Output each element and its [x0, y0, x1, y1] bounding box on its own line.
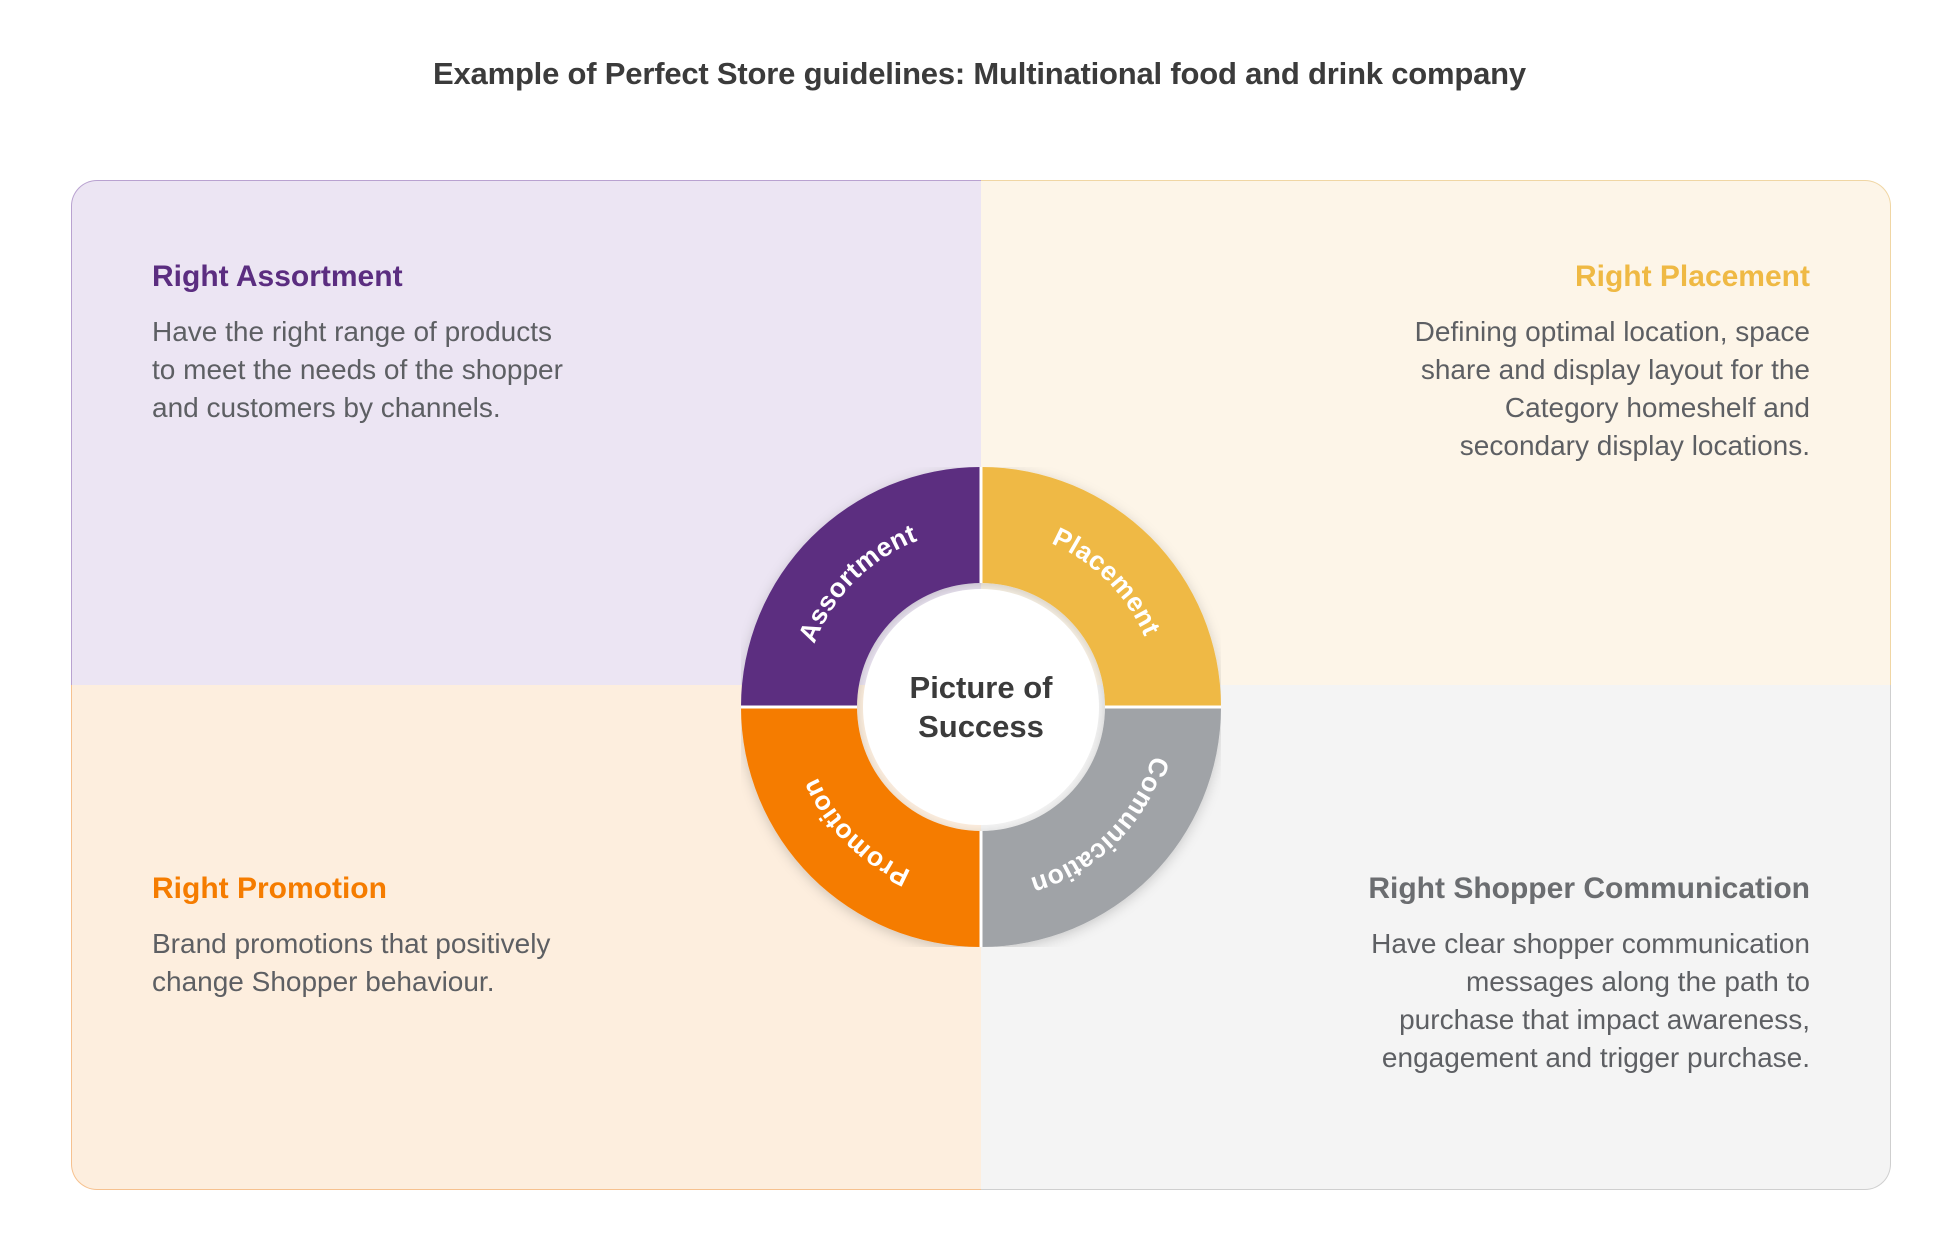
page-title: Example of Perfect Store guidelines: Mul…	[0, 56, 1959, 92]
heading-right-assortment: Right Assortment	[152, 259, 901, 295]
heading-right-placement: Right Placement	[1061, 259, 1810, 295]
body-right-shopper-communication: Have clear shopper communication message…	[1061, 925, 1810, 1077]
body-right-placement: Defining optimal location, space share a…	[1061, 313, 1810, 465]
body-right-assortment: Have the right range of products to meet…	[152, 313, 901, 427]
donut-center-circle	[863, 589, 1099, 825]
donut-svg: Assortment Placement Promotion Comunicat…	[741, 467, 1221, 947]
picture-of-success-donut: Assortment Placement Promotion Comunicat…	[741, 467, 1221, 947]
